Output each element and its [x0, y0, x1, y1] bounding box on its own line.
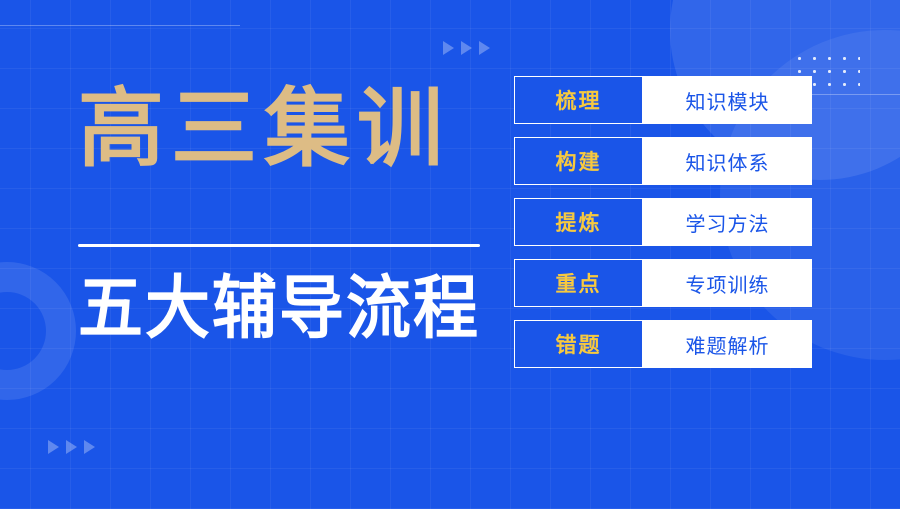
poster-canvas: 高三集训 五大辅导流程 梳理 知识模块 构建 知识体系 提炼 学习方法 重点 专… — [0, 0, 900, 509]
sub-title: 五大辅导流程 — [78, 273, 488, 345]
process-step-key: 提炼 — [514, 198, 643, 246]
triangle-arrow-icon — [479, 41, 490, 55]
triangle-arrow-icon — [461, 41, 472, 55]
process-step-key: 构建 — [514, 137, 643, 185]
process-step-value: 专项训练 — [643, 259, 812, 307]
list-item: 梳理 知识模块 — [514, 76, 812, 124]
list-item: 重点 专项训练 — [514, 259, 812, 307]
process-list: 梳理 知识模块 构建 知识体系 提炼 学习方法 重点 专项训练 错题 难题解析 — [514, 76, 812, 368]
list-item: 构建 知识体系 — [514, 137, 812, 185]
top-arrows-decoration — [443, 41, 490, 55]
list-item: 提炼 学习方法 — [514, 198, 812, 246]
process-step-value: 学习方法 — [643, 198, 812, 246]
triangle-arrow-icon — [443, 41, 454, 55]
triangle-arrow-icon — [84, 440, 95, 454]
process-step-value: 知识体系 — [643, 137, 812, 185]
headline-block: 高三集训 五大辅导流程 — [78, 86, 488, 341]
triangle-arrow-icon — [48, 440, 59, 454]
process-step-value: 难题解析 — [643, 320, 812, 368]
process-step-key: 重点 — [514, 259, 643, 307]
bottom-arrows-decoration — [48, 440, 95, 454]
main-title: 高三集训 — [78, 86, 488, 172]
triangle-arrow-icon — [66, 440, 77, 454]
list-item: 错题 难题解析 — [514, 320, 812, 368]
process-step-key: 梳理 — [514, 76, 643, 124]
title-divider — [78, 244, 480, 247]
process-step-key: 错题 — [514, 320, 643, 368]
process-step-value: 知识模块 — [643, 76, 812, 124]
